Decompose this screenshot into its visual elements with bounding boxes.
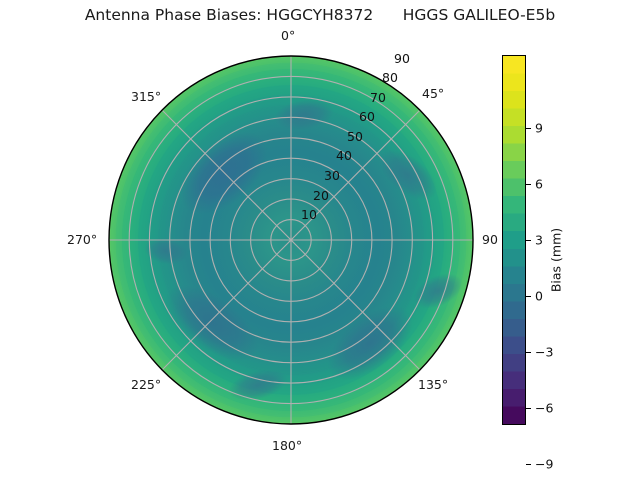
colorbar-tick-6 [526,184,531,185]
r-tick-label-40: 40 [336,148,352,163]
theta-tick-label-135: 135° [418,377,448,392]
r-tick-label-30: 30 [324,168,340,183]
colorbar-ticklabel-6: 6 [535,177,543,192]
colorbar-ticklabel-m3: −3 [535,345,553,360]
colorbar-ticklabel-0: 0 [535,289,543,304]
theta-tick-label-270: 270° [67,232,97,247]
colorbar-ticklabel-9: 9 [535,121,543,136]
theta-tick-label-180: 180° [272,438,302,453]
theta-tick-label-90: 90 [482,232,498,247]
colorbar-tick-9 [526,128,531,129]
colorbar-tick-0 [526,296,531,297]
r-tick-label-60: 60 [359,109,375,124]
r-tick-label-90: 90 [394,51,410,66]
polar-axes: 10 20 30 40 50 60 70 80 90 [108,55,474,425]
colorbar-tick-m3 [526,352,531,353]
colorbar-tick-m6 [526,408,531,409]
colorbar-ticklabel-m6: −6 [535,401,553,416]
colorbar-tick-3 [526,240,531,241]
colorbar-axis-label: Bias (mm) [549,228,564,292]
r-tick-label-80: 80 [382,70,398,85]
polar-grid-spokes [109,56,473,424]
polar-bias-figure: Antenna Phase Biases: HGGCYH8372 HGGS GA… [0,0,640,480]
polar-plot-canvas [108,55,474,425]
theta-tick-label-45: 45° [422,86,444,101]
r-tick-label-10: 10 [301,207,317,222]
figure-title: Antenna Phase Biases: HGGCYH8372 HGGS GA… [0,6,640,24]
theta-tick-label-0: 0° [281,28,295,43]
colorbar-gradient [502,55,526,425]
colorbar-ticklabel-3: 3 [535,233,543,248]
colorbar: 9 6 3 0 −3 −6 −9 [502,55,526,425]
colorbar-ticklabel-m9: −9 [535,457,553,472]
r-tick-label-70: 70 [370,90,386,105]
colorbar-tick-m9 [526,464,531,465]
r-tick-label-50: 50 [347,129,363,144]
theta-tick-label-315: 315° [131,89,161,104]
r-tick-label-20: 20 [313,188,329,203]
theta-tick-label-225: 225° [131,377,161,392]
